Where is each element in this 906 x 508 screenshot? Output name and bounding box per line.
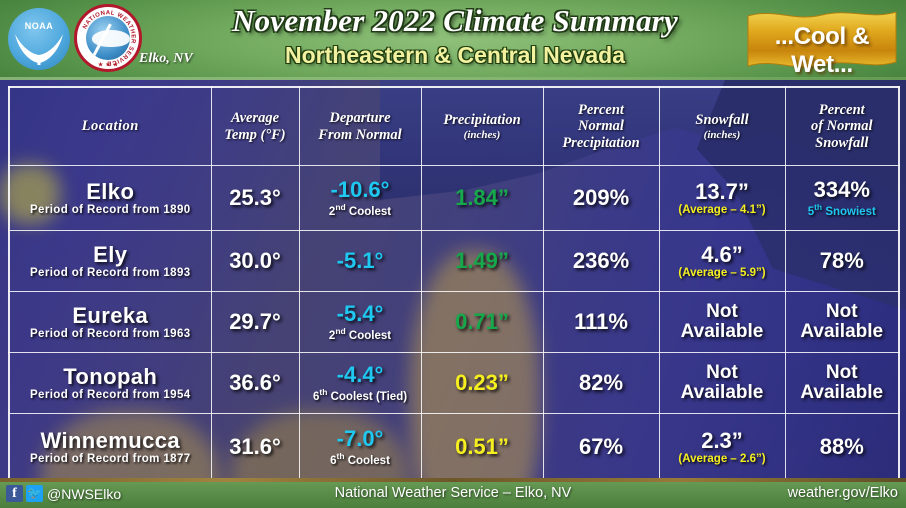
percent-normal-precipitation-value: 111% [544,310,659,333]
departure-value: -5.4° [300,302,421,325]
noaa-logo-text: NOAA [8,21,70,31]
departure-note: 6th Coolest [300,451,421,467]
column-header-precipitation: Precipitation (inches) [421,87,543,166]
cell-percent-normal-snowfall: 334%5th Snowiest [785,166,899,231]
column-header-precipitation-sub: (inches) [422,129,543,141]
percent-normal-snowfall-value: 78% [786,249,899,272]
table-row: EurekaPeriod of Record from 196329.7°-5.… [9,292,899,353]
table-row: ElyPeriod of Record from 189330.0°-5.1°1… [9,231,899,292]
cell-precipitation: 1.84” [421,166,543,231]
header-banner: NOAA NATIONAL WEATHER SERVICE ★ ★ ★ [0,0,906,80]
page-title: November 2022 Climate Summary [175,3,735,39]
cell-percent-normal-precipitation: 82% [543,353,659,414]
cell-departure-from-normal: -7.0°6th Coolest [299,414,421,482]
precipitation-value: 1.49” [422,249,543,272]
column-header-percent-normal-precip-title: Percent [544,102,659,118]
column-header-average-temp-title: Average [212,110,299,126]
cell-percent-normal-snowfall: NotAvailable [785,292,899,353]
banner-text: ...Cool & Wet... [746,23,898,79]
cell-percent-normal-precipitation: 236% [543,231,659,292]
cell-average-temp: 30.0° [211,231,299,292]
cell-departure-from-normal: -5.1° [299,231,421,292]
percent-normal-precipitation-value: 236% [544,249,659,272]
nws-logo-inner [86,16,130,60]
column-header-snowfall-title: Snowfall [660,112,785,128]
cell-percent-normal-precipitation: 111% [543,292,659,353]
average-temp-value: 29.7° [212,310,299,333]
cell-average-temp: 31.6° [211,414,299,482]
column-header-percent-normal-precip-sub: Normal Precipitation [544,118,659,150]
cell-snowfall: 13.7”(Average – 4.1”) [659,166,785,231]
cell-location: ElyPeriod of Record from 1893 [9,231,211,292]
noaa-bird-icon [13,32,65,66]
column-header-snowfall-sub: (inches) [660,129,785,141]
snowfall-value: NotAvailable [660,363,785,403]
cell-snowfall: 4.6”(Average – 5.9”) [659,231,785,292]
cell-location: TonopahPeriod of Record from 1954 [9,353,211,414]
average-temp-value: 25.3° [212,186,299,209]
cell-average-temp: 36.6° [211,353,299,414]
table-row: TonopahPeriod of Record from 195436.6°-4… [9,353,899,414]
snowfall-value: NotAvailable [660,302,785,342]
city-name: Tonopah [10,365,211,388]
cell-precipitation: 1.49” [421,231,543,292]
city-name: Ely [10,243,211,266]
table-header-row: Location Average Temp (°F) Departure Fro… [9,87,899,166]
city-name: Winnemucca [10,429,211,452]
cell-precipitation: 0.51” [421,414,543,482]
period-of-record: Period of Record from 1890 [10,204,211,216]
column-header-average-temp-sub: Temp (°F) [212,127,299,143]
table-row: ElkoPeriod of Record from 189025.3°-10.6… [9,166,899,231]
percent-normal-snowfall-value: 88% [786,435,899,458]
cell-snowfall: NotAvailable [659,292,785,353]
column-header-average-temp: Average Temp (°F) [211,87,299,166]
departure-value: -7.0° [300,427,421,450]
percent-normal-precipitation-value: 209% [544,186,659,209]
national-weather-service-logo: NATIONAL WEATHER SERVICE ★ ★ ★ [74,4,142,72]
cell-average-temp: 29.7° [211,292,299,353]
percent-normal-snowfall-value: NotAvailable [786,363,899,403]
period-of-record: Period of Record from 1954 [10,389,211,401]
cell-precipitation: 0.23” [421,353,543,414]
column-header-departure-title: Departure [300,110,421,126]
footer-bar: f 🐦 @NWSElko National Weather Service – … [0,478,906,508]
period-of-record: Period of Record from 1877 [10,453,211,465]
departure-note: 2nd Coolest [300,202,421,218]
period-of-record: Period of Record from 1963 [10,328,211,340]
average-temp-value: 30.0° [212,249,299,272]
svg-text:★ ★ ★: ★ ★ ★ [98,61,119,68]
city-name: Elko [10,180,211,203]
column-header-precipitation-title: Precipitation [422,112,543,128]
percent-normal-snowfall-value: NotAvailable [786,302,899,342]
average-temp-value: 36.6° [212,371,299,394]
average-temp-value: 31.6° [212,435,299,458]
snowfall-average-note: (Average – 4.1”) [660,204,785,216]
cell-percent-normal-snowfall: NotAvailable [785,353,899,414]
noaa-logo: NOAA [8,8,70,70]
percent-normal-snowfall-note: 5th Snowiest [786,202,899,218]
precipitation-value: 0.23” [422,371,543,394]
snowfall-value: 4.6” [660,243,785,266]
cell-percent-normal-snowfall: 78% [785,231,899,292]
percent-normal-precipitation-value: 67% [544,435,659,458]
departure-value: -5.1° [300,249,421,272]
column-header-departure: Departure From Normal [299,87,421,166]
snowfall-average-note: (Average – 5.9”) [660,267,785,279]
precipitation-value: 0.71” [422,310,543,333]
cell-average-temp: 25.3° [211,166,299,231]
percent-normal-snowfall-value: 334% [786,178,899,201]
snowfall-average-note: (Average – 2.6”) [660,453,785,465]
precipitation-value: 1.84” [422,186,543,209]
column-header-location-title: Location [10,118,211,134]
footer-website-link[interactable]: weather.gov/Elko [788,485,898,501]
table-background: Location Average Temp (°F) Departure Fro… [0,80,906,478]
summary-banner: ...Cool & Wet... [746,6,898,72]
cell-location: WinnemuccaPeriod of Record from 1877 [9,414,211,482]
page-subtitle: Northeastern & Central Nevada [175,42,735,69]
climate-summary-table: Location Average Temp (°F) Departure Fro… [8,86,900,482]
percent-normal-precipitation-value: 82% [544,371,659,394]
departure-value: -4.4° [300,363,421,386]
cell-precipitation: 0.71” [421,292,543,353]
cell-percent-normal-precipitation: 209% [543,166,659,231]
column-header-percent-normal-precip: Percent Normal Precipitation [543,87,659,166]
table-body: ElkoPeriod of Record from 189025.3°-10.6… [9,166,899,482]
column-header-percent-normal-snow-sub: of Normal Snowfall [786,118,899,150]
cell-percent-normal-snowfall: 88% [785,414,899,482]
city-name: Eureka [10,304,211,327]
cell-snowfall: 2.3”(Average – 2.6”) [659,414,785,482]
cell-location: ElkoPeriod of Record from 1890 [9,166,211,231]
departure-value: -10.6° [300,178,421,201]
departure-note: 2nd Coolest [300,326,421,342]
cell-snowfall: NotAvailable [659,353,785,414]
snowfall-value: 13.7” [660,180,785,203]
column-header-percent-normal-snow-title: Percent [786,102,899,118]
precipitation-value: 0.51” [422,435,543,458]
cell-departure-from-normal: -4.4°6th Coolest (Tied) [299,353,421,414]
cell-departure-from-normal: -5.4°2nd Coolest [299,292,421,353]
column-header-location: Location [9,87,211,166]
table-row: WinnemuccaPeriod of Record from 187731.6… [9,414,899,482]
period-of-record: Period of Record from 1893 [10,267,211,279]
column-header-departure-sub: From Normal [300,127,421,143]
cell-location: EurekaPeriod of Record from 1963 [9,292,211,353]
departure-note: 6th Coolest (Tied) [300,387,421,403]
cell-departure-from-normal: -10.6°2nd Coolest [299,166,421,231]
column-header-percent-normal-snow: Percent of Normal Snowfall [785,87,899,166]
column-header-snowfall: Snowfall (inches) [659,87,785,166]
climate-summary-poster: NOAA NATIONAL WEATHER SERVICE ★ ★ ★ [0,0,906,508]
snowfall-value: 2.3” [660,429,785,452]
footer-office-name: National Weather Service – Elko, NV [0,485,906,501]
cell-percent-normal-precipitation: 67% [543,414,659,482]
